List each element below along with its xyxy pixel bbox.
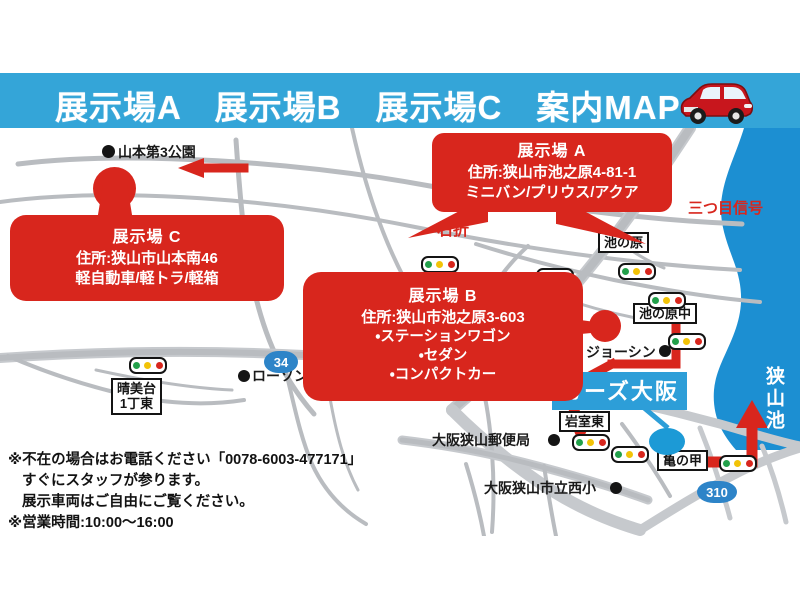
signal-red xyxy=(638,451,645,458)
callout-venue-a[interactable]: 展示場 A 住所:狭山市池之原4-81-1 ミニバン/プリウス/アクア xyxy=(432,133,672,212)
callout-b-item-1: ・ステーションワゴン xyxy=(309,328,577,347)
signal-green xyxy=(615,451,622,458)
traffic-signal-iwamuro xyxy=(572,434,610,451)
footer-notes: ※不在の場合はお電話ください「0078-6003-477171」 すぐにスタッフ… xyxy=(8,450,362,534)
signal-yellow xyxy=(626,451,633,458)
callout-c-address: 住所:狭山市山本南46 xyxy=(16,249,278,269)
callout-c-title: 展示場 C xyxy=(16,227,278,249)
footer-line-3: 展示車両はご自由にご覧ください。 xyxy=(8,492,362,513)
signal-green xyxy=(652,297,659,304)
callout-b-title: 展示場 B xyxy=(309,286,577,308)
page-title: 展示場A 展示場B 展示場C 案内MAP xyxy=(55,81,681,129)
signal-yellow xyxy=(436,261,443,268)
callout-b-address: 住所:狭山市池之原3-603 xyxy=(309,308,577,328)
signal-yellow xyxy=(734,460,741,467)
place-joshin: ジョーシン xyxy=(586,342,656,362)
callout-b-item-2: ・セダン xyxy=(309,347,577,366)
lake-shape xyxy=(714,128,800,450)
callout-a-title: 展示場 A xyxy=(436,141,668,163)
traffic-signal-joshin xyxy=(668,333,706,350)
callout-a-address: 住所:狭山市池之原4-81-1 xyxy=(436,163,668,183)
signal-red xyxy=(746,460,753,467)
traffic-signal-ususetsu xyxy=(421,256,459,273)
route-shield-34: 34 xyxy=(264,351,298,373)
signal-red xyxy=(695,338,702,345)
signal-yellow xyxy=(663,297,670,304)
signal-green xyxy=(425,261,432,268)
route-shield-310: 310 xyxy=(697,481,737,503)
lawson-dot xyxy=(238,370,250,382)
signal-red xyxy=(156,362,163,369)
traffic-signal-center-south xyxy=(611,446,649,463)
callout-c-vehicles: 軽自動車/軽トラ/軽箱 xyxy=(16,269,278,289)
traffic-signal-harumidai xyxy=(129,357,167,374)
callout-b-marker xyxy=(589,310,621,342)
intersection-harumidai: 晴美台 1丁東 xyxy=(111,378,162,415)
signal-green xyxy=(672,338,679,345)
nishi-elementary-dot xyxy=(610,482,622,494)
place-post-office: 大阪狭山郵便局 xyxy=(432,430,530,450)
footer-line-1: ※不在の場合はお電話ください「0078-6003-477171」 xyxy=(8,450,362,471)
callout-b-item-3: ・コンパクトカー xyxy=(309,366,577,385)
place-yamamoto-park: 山本第3公園 xyxy=(118,142,196,162)
place-nishi-elementary: 大阪狭山市立西小 xyxy=(484,478,596,498)
lake-label: 狭山池 xyxy=(760,366,787,432)
callout-venue-c[interactable]: 展示場 C 住所:狭山市山本南46 軽自動車/軽トラ/軽箱 xyxy=(10,215,284,301)
signal-green xyxy=(576,439,583,446)
intersection-iwamuro-higashi: 岩室東 xyxy=(559,411,610,432)
signal-red xyxy=(675,297,682,304)
signal-red xyxy=(448,261,455,268)
signal-green xyxy=(133,362,140,369)
yamamoto-park-dot xyxy=(102,145,115,158)
footer-line-2: すぐにスタッフが参ります。 xyxy=(8,471,362,492)
shop-location-marker xyxy=(649,428,685,455)
signal-yellow xyxy=(144,362,151,369)
callout-venue-b[interactable]: 展示場 B 住所:狭山市池之原3-603 ・ステーションワゴン ・セダン ・コン… xyxy=(303,272,583,401)
signal-red xyxy=(599,439,606,446)
signal-green xyxy=(622,268,629,275)
traffic-signal-ikenohara-naka xyxy=(648,292,686,309)
traffic-signal-kamenoko xyxy=(719,455,757,472)
signal-yellow xyxy=(633,268,640,275)
harumidai-line-1: 晴美台 xyxy=(117,381,156,396)
signal-red xyxy=(645,268,652,275)
post-office-dot xyxy=(548,434,560,446)
signal-yellow xyxy=(683,338,690,345)
signal-green xyxy=(723,460,730,467)
harumidai-line-2: 1丁東 xyxy=(117,396,156,411)
red-car-icon xyxy=(676,76,756,128)
traffic-signal-ikenohara xyxy=(618,263,656,280)
map-flyer: 展示場A 展示場B 展示場C 案内MAP xyxy=(0,0,800,600)
third-signal-note: 三つ目信号 xyxy=(688,197,763,218)
callout-a-vehicles: ミニバン/プリウス/アクア xyxy=(436,183,668,203)
signal-yellow xyxy=(587,439,594,446)
footer-line-4: ※営業時間:10:00～16:00 xyxy=(8,513,362,534)
